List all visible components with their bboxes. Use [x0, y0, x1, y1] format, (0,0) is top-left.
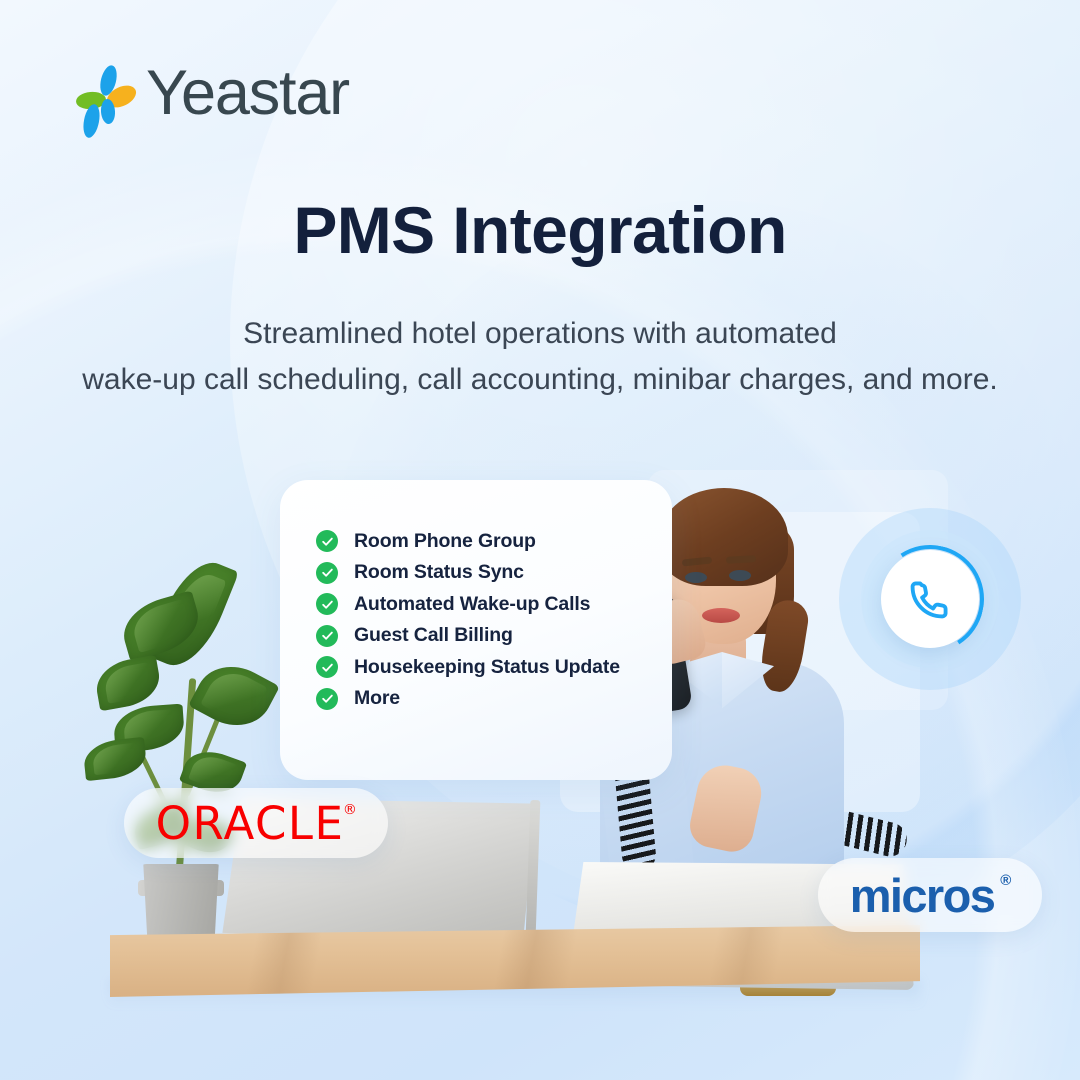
list-item: Guest Call Billing	[316, 625, 666, 647]
oracle-partner-badge: ORACLE ®	[124, 788, 388, 858]
person-lips	[702, 608, 740, 623]
person-hair	[660, 488, 788, 586]
check-circle-icon	[316, 656, 338, 678]
person-eye-right	[729, 570, 751, 581]
check-circle-icon	[316, 625, 338, 647]
feature-label: Housekeeping Status Update	[354, 656, 620, 679]
micros-registered-mark: ®	[1000, 873, 1011, 888]
check-circle-icon	[316, 530, 338, 552]
phone-handset-icon	[908, 577, 952, 621]
feature-label: Room Phone Group	[354, 530, 536, 553]
list-item: Room Phone Group	[316, 530, 666, 552]
list-item: Automated Wake-up Calls	[316, 593, 666, 615]
list-item: More	[316, 688, 666, 710]
oracle-wordmark-text: ORACLE	[156, 797, 345, 850]
check-circle-icon	[316, 688, 338, 710]
plant-leaf	[82, 737, 148, 781]
plant-leaf	[188, 653, 280, 740]
micros-wordmark-text: micros	[850, 869, 995, 922]
oracle-wordmark: ORACLE ®	[156, 801, 357, 846]
feature-label: Automated Wake-up Calls	[354, 593, 590, 616]
list-item: Room Status Sync	[316, 562, 666, 584]
micros-wordmark: micros ®	[850, 872, 1011, 919]
feature-list: Room Phone Group Room Status Sync Automa…	[316, 530, 666, 710]
feature-label: Guest Call Billing	[354, 624, 513, 647]
list-item: Housekeeping Status Update	[316, 656, 666, 678]
feature-label: Room Status Sync	[354, 561, 524, 584]
plant-leaf	[92, 655, 163, 711]
call-badge	[839, 508, 1021, 690]
hero-scene: Room Phone Group Room Status Sync Automa…	[0, 0, 1080, 1080]
promo-graphic: Yeastar PMS Integration Streamlined hote…	[0, 0, 1080, 1080]
check-circle-icon	[316, 593, 338, 615]
micros-partner-badge: micros ®	[818, 858, 1042, 932]
feature-label: More	[354, 687, 400, 710]
person-eye-left	[685, 572, 707, 583]
oracle-registered-mark: ®	[343, 803, 359, 817]
check-circle-icon	[316, 562, 338, 584]
